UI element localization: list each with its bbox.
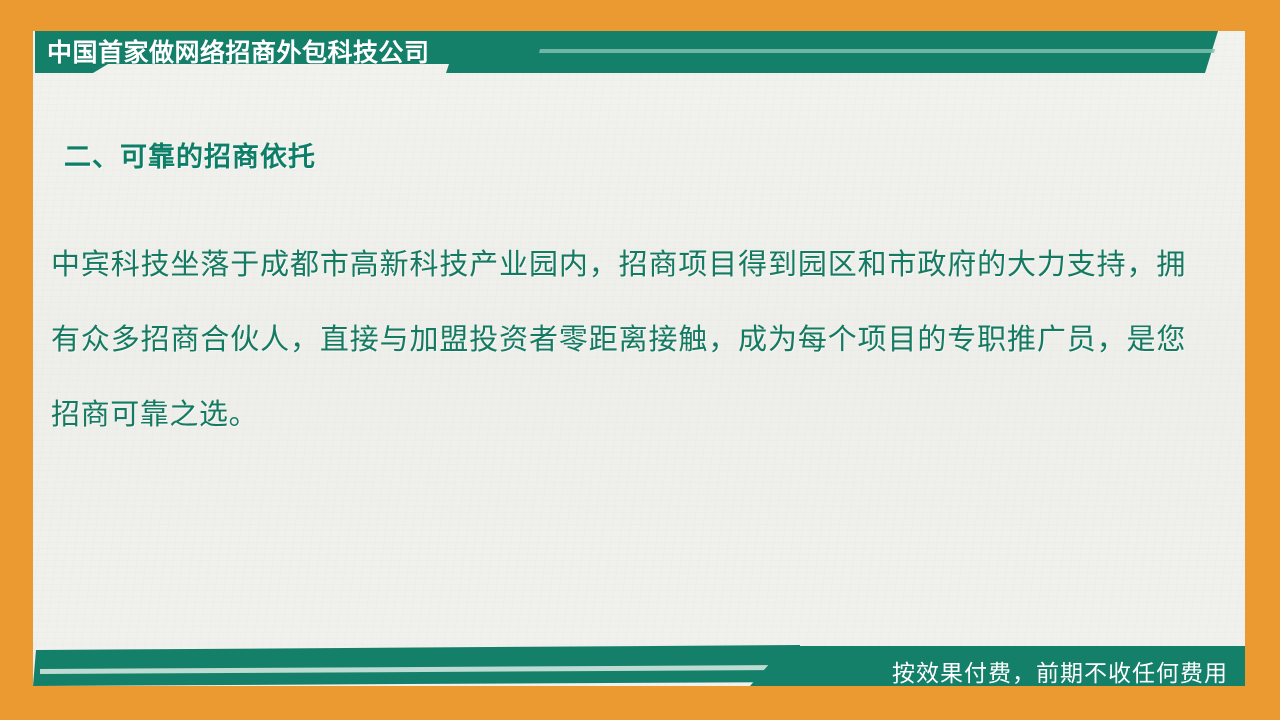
frame-right-bottom bbox=[1245, 624, 1280, 720]
frame-left-top bbox=[0, 0, 33, 92]
frame-left-bottom bbox=[0, 624, 33, 720]
section-heading: 二、可靠的招商依托 bbox=[64, 135, 316, 174]
frame-right-top bbox=[1245, 0, 1280, 92]
slide: 中国首家做网络招商外包科技公司 二、可靠的招商依托 中宾科技坐落于成都市高新科技… bbox=[0, 0, 1280, 720]
body-paragraph: 中宾科技坐落于成都市高新科技产业园内，招商项目得到园区和市政府的大力支持，拥有众… bbox=[51, 228, 1186, 453]
